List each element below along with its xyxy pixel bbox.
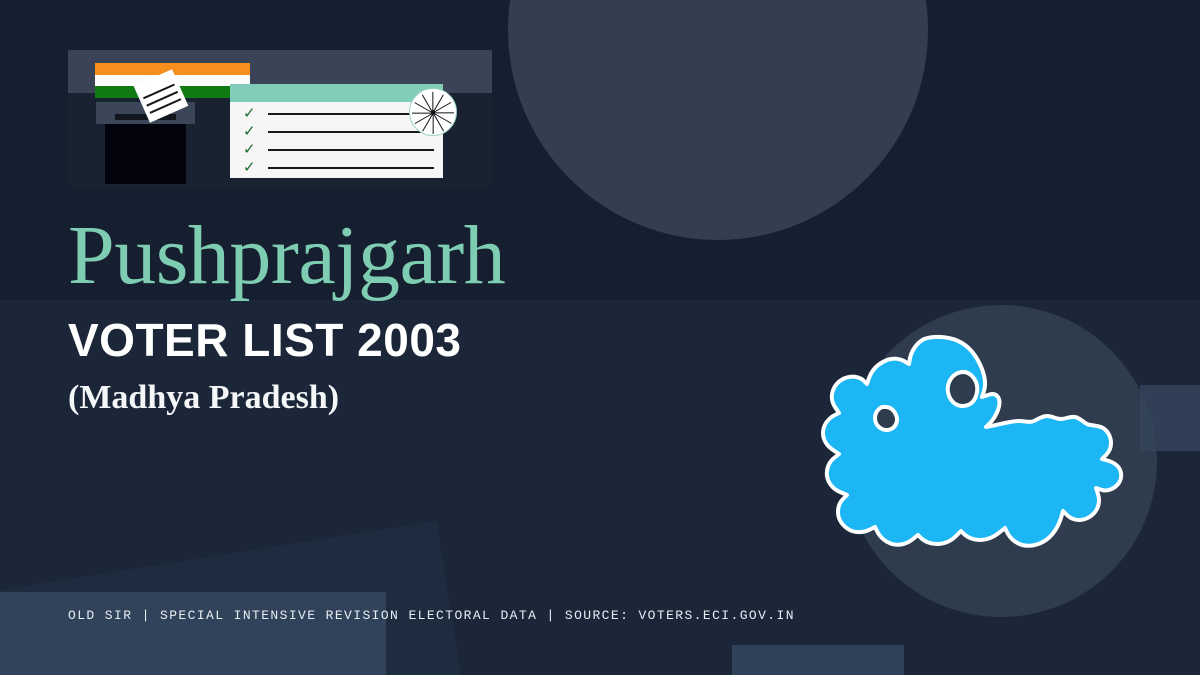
ballot-box-body [105, 124, 186, 184]
footer-source-text: OLD SIR | SPECIAL INTENSIVE REVISION ELE… [68, 608, 795, 623]
election-ballot-illustration: ✓ ✓ ✓ ✓ [68, 50, 492, 188]
chakra-spoke [432, 113, 433, 134]
voter-checklist-card: ✓ ✓ ✓ ✓ [230, 84, 443, 178]
poster-canvas: ✓ ✓ ✓ ✓ Pushprajgarh VOTER LIST 2003 (Ma… [0, 0, 1200, 675]
checklist-line [268, 113, 420, 115]
checklist-line [268, 167, 434, 169]
title-block: Pushprajgarh VOTER LIST 2003 (Madhya Pra… [68, 216, 768, 415]
decor-circle-top [508, 0, 928, 240]
checklist-row: ✓ [239, 161, 439, 175]
chakra-spoke [412, 112, 433, 113]
map-state-shape [823, 337, 1121, 546]
check-icon: ✓ [243, 161, 259, 175]
page-subtitle: VOTER LIST 2003 [68, 317, 768, 363]
checklist-row: ✓ [239, 143, 439, 157]
check-icon: ✓ [243, 107, 259, 121]
state-label: (Madhya Pradesh) [68, 381, 768, 415]
decor-rect-right [1140, 385, 1200, 451]
checklist-line [268, 131, 434, 133]
checklist-line [268, 149, 434, 151]
ashoka-chakra-icon [409, 88, 457, 136]
check-icon: ✓ [243, 143, 259, 157]
checklist-row: ✓ [239, 125, 439, 139]
decor-rect-bottom-left [0, 592, 386, 675]
check-icon: ✓ [243, 125, 259, 139]
madhya-pradesh-map [806, 331, 1136, 569]
page-title: Pushprajgarh [68, 216, 768, 297]
ballot-paper-line [143, 84, 175, 99]
decor-rect-bottom-right [732, 645, 904, 675]
map-svg [806, 331, 1136, 569]
